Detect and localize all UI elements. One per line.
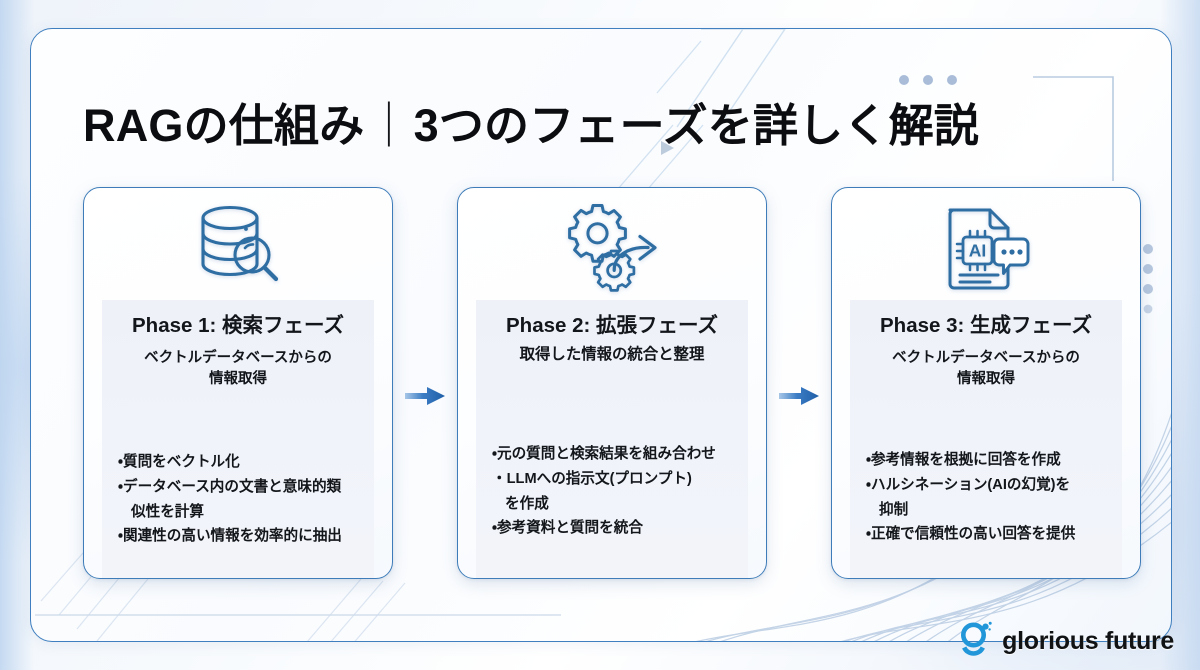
- title-main: RAGの仕組み: [83, 100, 364, 151]
- phase-card-2[interactable]: Phase 2: 拡張フェーズ 取得した情報の統合と整理 元の質問と検索結果を組…: [457, 187, 767, 579]
- phase-card-2-title: Phase 2: 拡張フェーズ: [506, 314, 718, 339]
- database-search-icon: [84, 188, 392, 300]
- bullet-item: 元の質問と検索結果を組み合わせ: [492, 443, 734, 467]
- bullet-item: LLMへの指示文(プロンプト): [492, 468, 734, 492]
- gears-arrow-icon: [458, 188, 766, 300]
- subtitle-line: ベクトルデータベースからの: [892, 348, 1080, 369]
- phase-card-1-bullets: 質問をベクトル化 データベース内の文書と意味的類 似性を計算 関連性の高い情報を…: [112, 451, 364, 566]
- phase-card-3-bullets: 参考情報を根拠に回答を作成 ハルシネーション(AIの幻覚)を 抑制 正確で信頼性…: [860, 449, 1112, 566]
- bullet-item-continuation: を作成: [492, 493, 734, 517]
- phase-cards-row: Phase 1: 検索フェーズ ベクトルデータベースからの 情報取得 質問をベク…: [83, 187, 1141, 579]
- phase-card-3[interactable]: AI Phase 3: 生成フェーズ ベクトルデータベースからの 情報取得: [831, 187, 1141, 579]
- subtitle-line: 情報取得: [144, 369, 332, 390]
- phase-card-2-bullets: 元の質問と検索結果を組み合わせ LLMへの指示文(プロンプト) を作成 参考資料…: [486, 443, 738, 566]
- page-title: RAGの仕組み｜3つのフェーズを詳しく解説: [83, 89, 1083, 154]
- bullet-item: ハルシネーション(AIの幻覚)を: [866, 474, 1108, 498]
- title-sub: 3つのフェーズを詳しく解説: [414, 100, 979, 151]
- phase-card-2-subtitle: 取得した情報の統合と整理: [520, 344, 705, 366]
- bullet-item: データベース内の文書と意味的類: [118, 476, 360, 500]
- glorious-future-g-logo: [959, 620, 993, 662]
- phase-card-1-title: Phase 1: 検索フェーズ: [132, 314, 344, 339]
- brand-logo: glorious future: [959, 620, 1174, 662]
- subtitle-line: 情報取得: [892, 369, 1080, 390]
- bullet-item-continuation: 抑制: [866, 499, 1108, 523]
- arrow-phase2-to-phase3: [771, 187, 827, 579]
- phase-card-1-subtitle: ベクトルデータベースからの 情報取得: [144, 348, 332, 390]
- bullet-item-continuation: 似性を計算: [118, 501, 360, 525]
- phase-card-1[interactable]: Phase 1: 検索フェーズ ベクトルデータベースからの 情報取得 質問をベク…: [83, 187, 393, 579]
- svg-text:AI: AI: [969, 241, 987, 261]
- bullet-item: 質問をベクトル化: [118, 451, 360, 475]
- ai-document-chat-icon: AI: [832, 188, 1140, 300]
- slide-frame: RAGの仕組み｜3つのフェーズを詳しく解説: [30, 28, 1172, 642]
- phase-card-3-subtitle: ベクトルデータベースからの 情報取得: [892, 348, 1080, 390]
- bullet-item: 関連性の高い情報を効率的に抽出: [118, 525, 360, 549]
- subtitle-line: 取得した情報の統合と整理: [520, 344, 705, 366]
- bullet-item: 参考情報を根拠に回答を作成: [866, 449, 1108, 473]
- brand-logo-text: glorious future: [1002, 627, 1174, 656]
- phase-card-1-panel: Phase 1: 検索フェーズ ベクトルデータベースからの 情報取得 質問をベク…: [102, 300, 374, 578]
- subtitle-line: ベクトルデータベースからの: [144, 348, 332, 369]
- title-divider: ｜: [364, 100, 413, 151]
- phase-card-2-panel: Phase 2: 拡張フェーズ 取得した情報の統合と整理 元の質問と検索結果を組…: [476, 300, 748, 578]
- arrow-right-icon: [779, 386, 819, 406]
- arrow-phase1-to-phase2: [397, 187, 453, 579]
- phase-card-3-title: Phase 3: 生成フェーズ: [880, 314, 1092, 339]
- arrow-right-icon: [405, 386, 445, 406]
- bullet-item: 参考資料と質問を統合: [492, 517, 734, 541]
- bullet-item: 正確で信頼性の高い回答を提供: [866, 523, 1108, 547]
- phase-card-3-panel: Phase 3: 生成フェーズ ベクトルデータベースからの 情報取得 参考情報を…: [850, 300, 1122, 578]
